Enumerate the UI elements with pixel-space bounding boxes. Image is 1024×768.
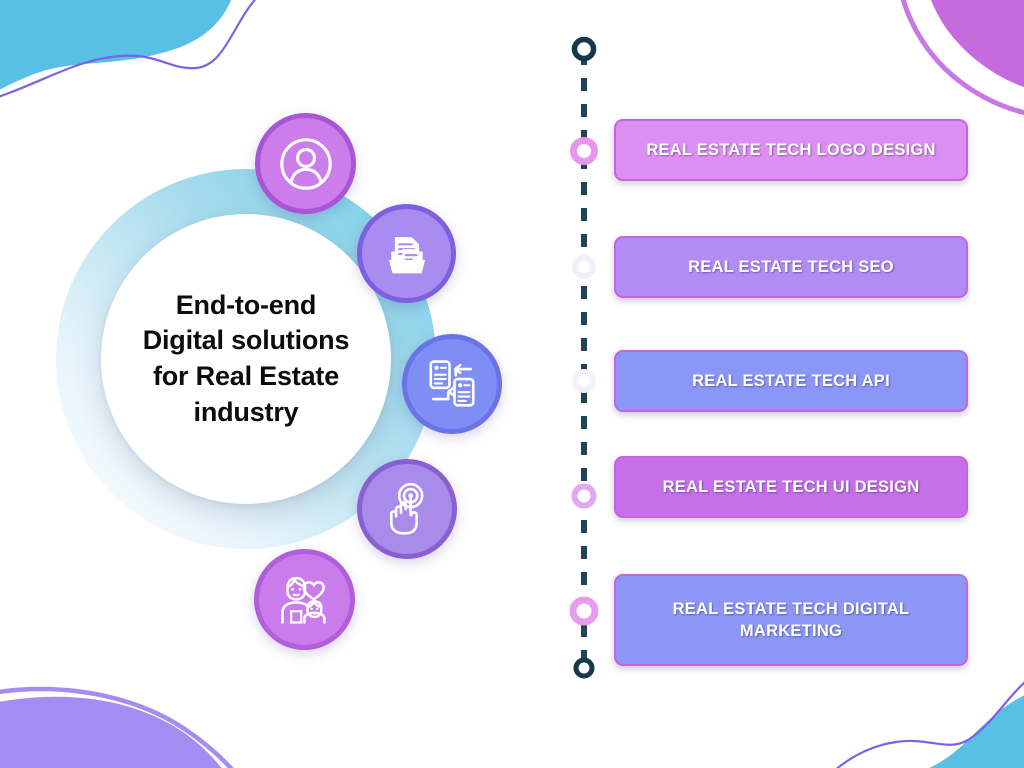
- hand-tap-icon: [378, 480, 436, 538]
- service-pill-digital-marketing[interactable]: REAL ESTATE TECH DIGITAL MARKETING: [614, 574, 968, 666]
- services-timeline: REAL ESTATE TECH LOGO DESIGN REAL ESTATE…: [556, 30, 986, 690]
- service-pill-label: REAL ESTATE TECH API: [682, 370, 900, 392]
- service-pill-label: REAL ESTATE TECH SEO: [678, 256, 904, 278]
- infographic-canvas: End-to-end Digital solutions for Real Es…: [0, 0, 1024, 768]
- hub-center-text: End-to-end Digital solutions for Real Es…: [129, 288, 364, 431]
- blob-top-left-blue-2: [0, 0, 240, 112]
- timeline-marker-2: [575, 258, 593, 276]
- timeline-cap-top: [575, 40, 594, 59]
- blob-top-left-blue: [0, 0, 220, 108]
- documents-folder-icon: [378, 225, 436, 283]
- service-pill-logo-design[interactable]: REAL ESTATE TECH LOGO DESIGN: [614, 119, 968, 181]
- icon-node-user-profile[interactable]: [255, 113, 356, 214]
- family-couple-icon: [275, 570, 335, 630]
- timeline-marker-1: [574, 141, 595, 162]
- blob-bottom-right-blue: [820, 686, 1024, 768]
- icon-node-family-couple[interactable]: [254, 549, 355, 650]
- icon-node-data-exchange[interactable]: [402, 334, 502, 434]
- service-pill-label: REAL ESTATE TECH DIGITAL MARKETING: [663, 598, 920, 643]
- hub-diagram: End-to-end Digital solutions for Real Es…: [46, 116, 516, 656]
- service-pill-ui-design[interactable]: REAL ESTATE TECH UI DESIGN: [614, 456, 968, 518]
- blob-bottom-right-blue-2: [812, 694, 1024, 768]
- user-profile-icon: [277, 135, 335, 193]
- timeline-cap-bottom: [576, 660, 592, 676]
- arc-bottom-left-outline: [0, 689, 258, 768]
- timeline-marker-4: [575, 487, 594, 506]
- wave-top-left-outline: [0, 0, 292, 106]
- timeline-marker-5: [573, 600, 595, 622]
- service-pill-label: REAL ESTATE TECH LOGO DESIGN: [636, 139, 945, 161]
- service-pill-seo[interactable]: REAL ESTATE TECH SEO: [614, 236, 968, 298]
- hub-center-circle: End-to-end Digital solutions for Real Es…: [101, 214, 391, 504]
- service-pill-label: REAL ESTATE TECH UI DESIGN: [653, 476, 930, 498]
- icon-node-documents-folder[interactable]: [357, 204, 456, 303]
- icon-node-hand-tap[interactable]: [357, 459, 457, 559]
- data-exchange-icon: [422, 354, 482, 414]
- timeline-marker-3: [575, 372, 593, 390]
- service-pill-api[interactable]: REAL ESTATE TECH API: [614, 350, 968, 412]
- blob-bottom-left-violet: [0, 697, 244, 768]
- service-pill-list: REAL ESTATE TECH LOGO DESIGN REAL ESTATE…: [614, 30, 970, 690]
